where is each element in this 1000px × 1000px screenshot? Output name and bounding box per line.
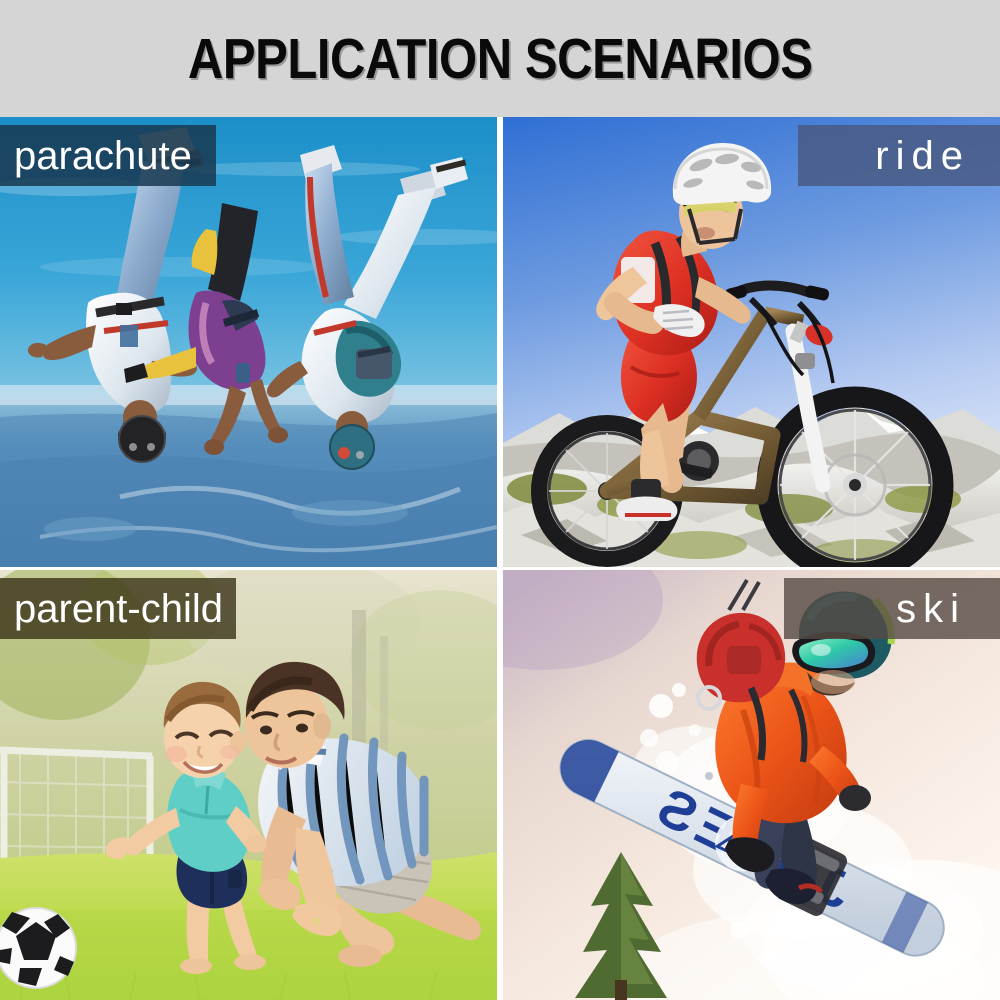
- soccer-ball-icon: [0, 908, 76, 988]
- poster-header: APPLICATION SCENARIOS: [0, 0, 1000, 117]
- scenario-panel-parachute[interactable]: parachute: [0, 117, 497, 567]
- panel-label-text: parachute: [14, 136, 192, 176]
- panel-label-text: parent-child: [14, 589, 223, 629]
- panel-label-ride: ride: [798, 125, 1000, 186]
- panel-label-parent-child: parent-child: [0, 578, 236, 639]
- scenario-panel-ride[interactable]: ride: [503, 117, 1000, 567]
- panel-label-text: ride: [875, 136, 970, 176]
- scenario-panel-parent-child[interactable]: parent-child: [0, 570, 497, 1000]
- vertical-gutter: [497, 117, 503, 1000]
- application-scenarios-poster: APPLICATION SCENARIOS: [0, 0, 1000, 1000]
- panel-label-text: ski: [896, 589, 966, 629]
- scenario-grid: parachute: [0, 117, 1000, 1000]
- horizontal-gutter: [0, 567, 1000, 570]
- panel-label-parachute: parachute: [0, 125, 216, 186]
- panel-label-ski: ski: [784, 578, 1000, 639]
- page-title: APPLICATION SCENARIOS: [188, 26, 813, 92]
- scenario-panel-ski[interactable]: JONES: [503, 570, 1000, 1000]
